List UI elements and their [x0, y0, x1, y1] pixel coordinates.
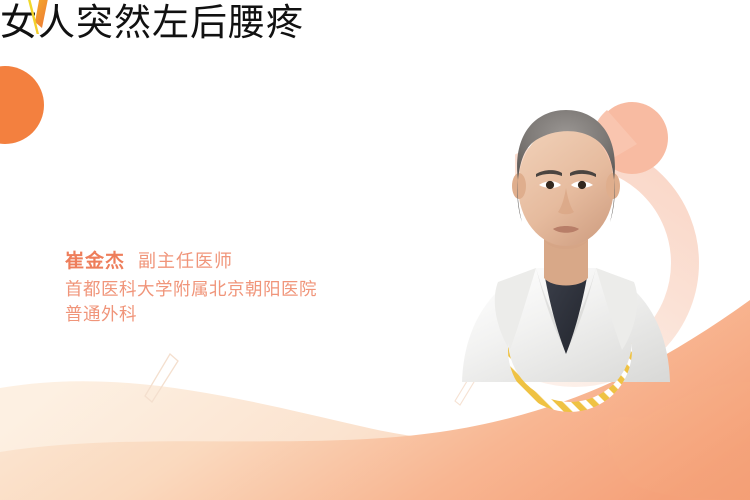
stroke-thick-orange	[35, 0, 51, 28]
doctor-info-block: 崔金杰 副主任医师 首都医科大学附属北京朝阳医院 普通外科	[65, 246, 317, 329]
doctor-hospital: 首都医科大学附属北京朝阳医院	[65, 278, 317, 303]
striped-circle-decor	[508, 288, 632, 412]
doctor-name-row: 崔金杰 副主任医师	[65, 246, 317, 273]
doctor-info-card: 女人突然左后腰疼 崔金杰 副主任医师 首都医科大学附属北京朝阳医院 普通外科	[0, 0, 750, 500]
diagonal-strokes-decor	[18, 0, 98, 62]
doctor-job-title: 副主任医师	[138, 247, 233, 273]
faint-outline-stroke-decor	[140, 352, 184, 404]
doctor-department: 普通外科	[65, 303, 317, 328]
doctor-name: 崔金杰	[65, 246, 125, 273]
